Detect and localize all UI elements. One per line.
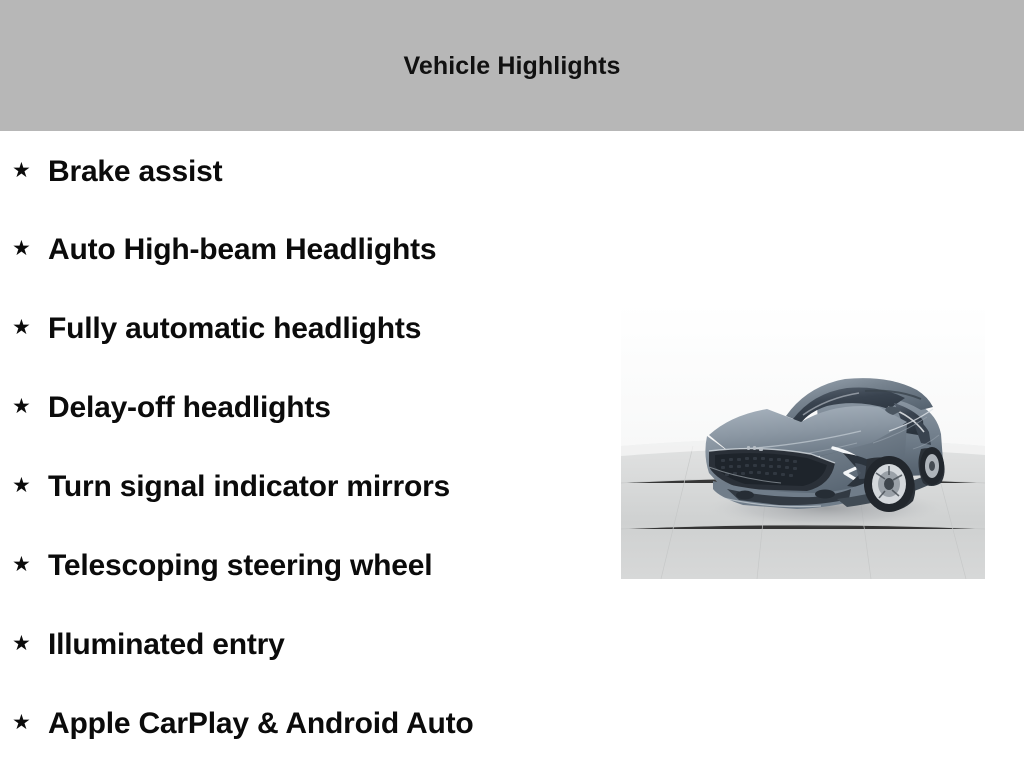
- star-icon: ★: [12, 396, 48, 417]
- header-band: Vehicle Highlights: [0, 0, 1024, 131]
- vehicle-highlights-list: ★ Brake assist ★ Auto High-beam Headligh…: [0, 131, 620, 763]
- list-item: ★ Telescoping steering wheel: [0, 526, 620, 605]
- vehicle-photo: [621, 303, 985, 579]
- list-item-label: Delay-off headlights: [48, 391, 331, 425]
- page-title: Vehicle Highlights: [0, 51, 1024, 81]
- star-icon: ★: [12, 712, 48, 733]
- list-item: ★ Fully automatic headlights: [0, 289, 620, 368]
- list-item-label: Brake assist: [48, 155, 222, 189]
- star-icon: ★: [12, 160, 48, 181]
- list-item: ★ Brake assist: [0, 131, 620, 210]
- star-icon: ★: [12, 317, 48, 338]
- list-item-label: Auto High-beam Headlights: [48, 233, 436, 267]
- star-icon: ★: [12, 238, 48, 259]
- vehicle-photo-illustration: [621, 303, 985, 579]
- list-item: ★ Illuminated entry: [0, 605, 620, 684]
- list-item-label: Illuminated entry: [48, 628, 285, 662]
- list-item-label: Apple CarPlay & Android Auto: [48, 707, 474, 741]
- star-icon: ★: [12, 554, 48, 575]
- list-item: ★ Apple CarPlay & Android Auto: [0, 684, 620, 763]
- star-icon: ★: [12, 633, 48, 654]
- list-item-label: Turn signal indicator mirrors: [48, 470, 450, 504]
- list-item: ★ Turn signal indicator mirrors: [0, 447, 620, 526]
- list-item-label: Telescoping steering wheel: [48, 549, 432, 583]
- list-item: ★ Delay-off headlights: [0, 368, 620, 447]
- list-item-label: Fully automatic headlights: [48, 312, 421, 346]
- list-item: ★ Auto High-beam Headlights: [0, 210, 620, 289]
- star-icon: ★: [12, 475, 48, 496]
